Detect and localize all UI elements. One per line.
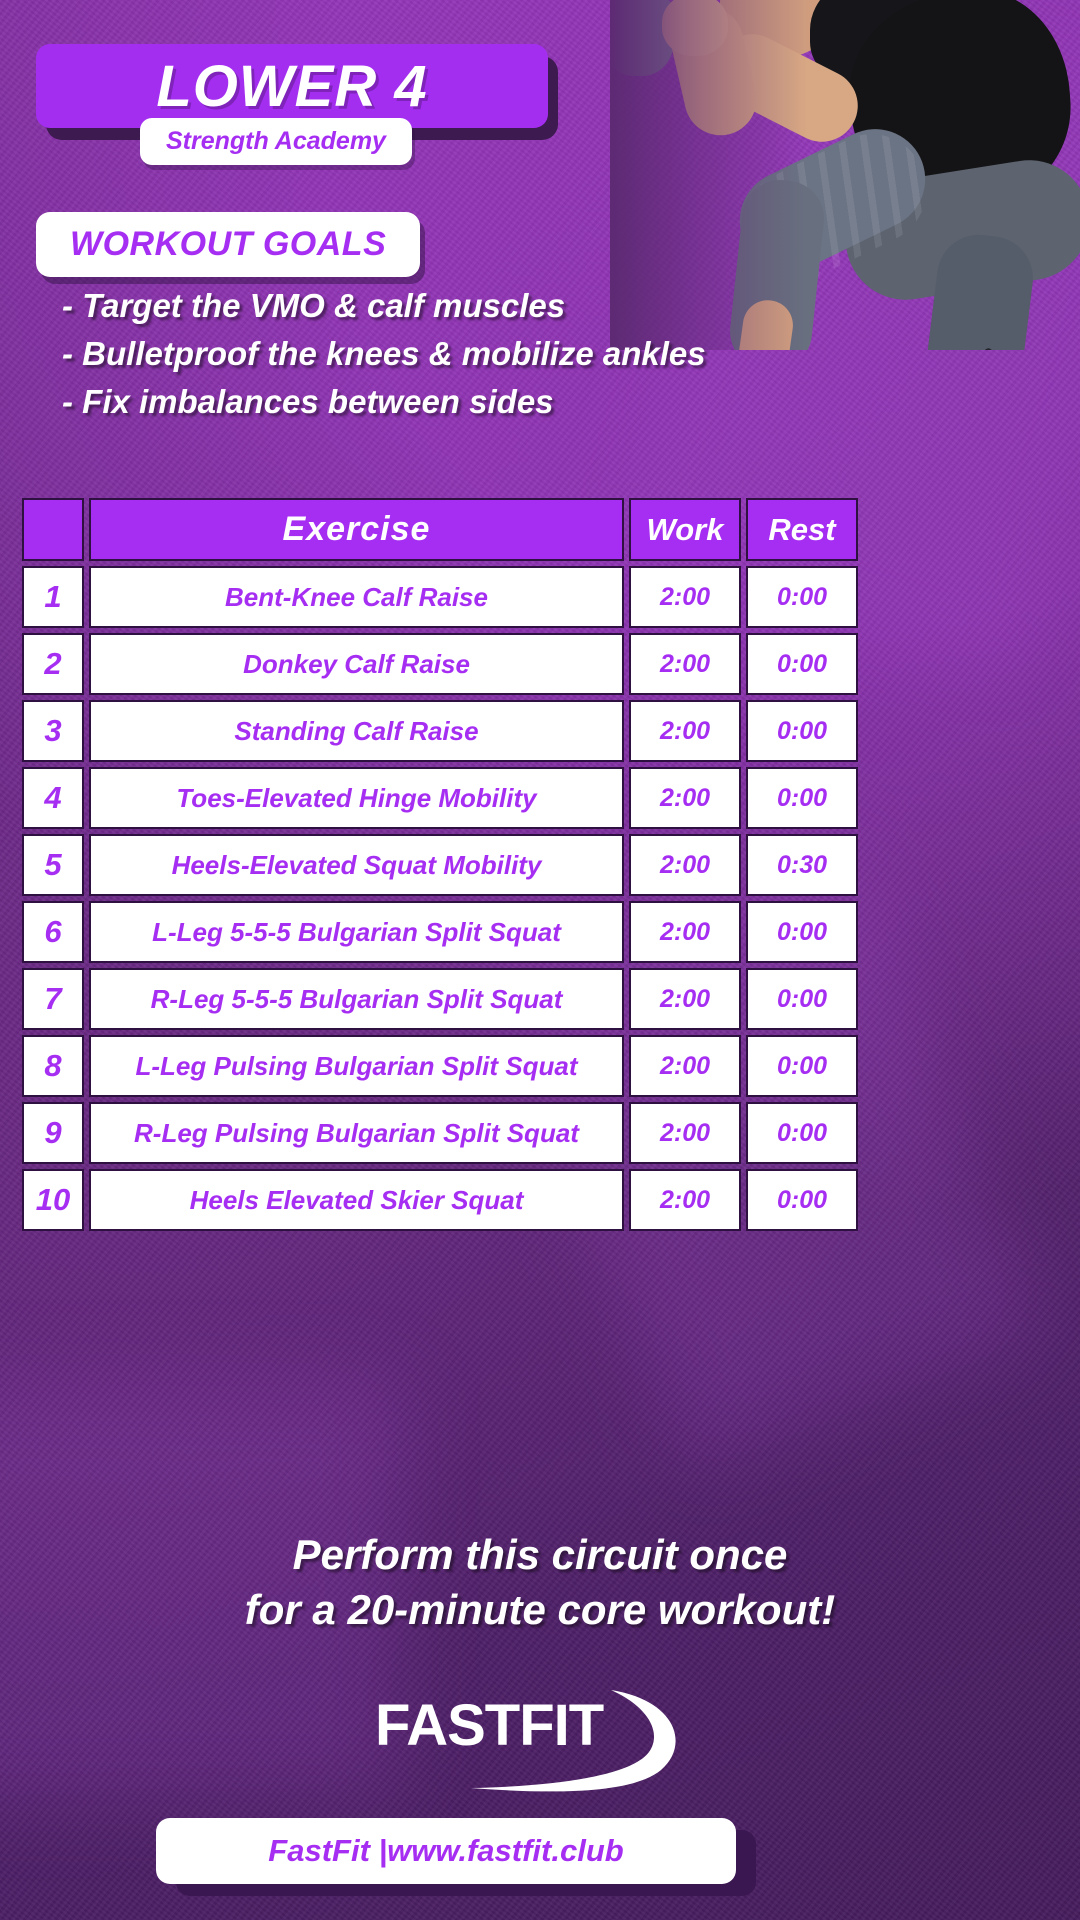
workout-goals-pill: WORKOUT GOALS bbox=[36, 212, 420, 277]
row-work: 2:00 bbox=[629, 1169, 741, 1231]
row-number: 4 bbox=[22, 767, 84, 829]
row-exercise: Toes-Elevated Hinge Mobility bbox=[89, 767, 624, 829]
row-rest: 0:00 bbox=[746, 700, 858, 762]
row-number: 1 bbox=[22, 566, 84, 628]
column-header-rest: Rest bbox=[746, 498, 858, 561]
column-header-exercise: Exercise bbox=[89, 498, 624, 561]
row-rest: 0:00 bbox=[746, 633, 858, 695]
row-exercise: Donkey Calf Raise bbox=[89, 633, 624, 695]
row-rest: 0:30 bbox=[746, 834, 858, 896]
row-work: 2:00 bbox=[629, 901, 741, 963]
row-work: 2:00 bbox=[629, 834, 741, 896]
outro-line-1: Perform this circuit once bbox=[0, 1528, 1080, 1583]
outro-message: Perform this circuit once for a 20-minut… bbox=[0, 1528, 1080, 1637]
workout-goals-list: - Target the VMO & calf muscles - Bullet… bbox=[62, 282, 862, 426]
row-exercise: Standing Calf Raise bbox=[89, 700, 624, 762]
page-title: LOWER 4 bbox=[156, 53, 427, 120]
table-row: 3 Standing Calf Raise 2:00 0:00 bbox=[22, 700, 858, 762]
table-row: 1 Bent-Knee Calf Raise 2:00 0:00 bbox=[22, 566, 858, 628]
row-work: 2:00 bbox=[629, 633, 741, 695]
row-rest: 0:00 bbox=[746, 566, 858, 628]
row-number: 10 bbox=[22, 1169, 84, 1231]
url-bar[interactable]: FastFit |www.fastfit.club bbox=[156, 1818, 736, 1884]
row-work: 2:00 bbox=[629, 968, 741, 1030]
row-rest: 0:00 bbox=[746, 1035, 858, 1097]
subtitle-pill: Strength Academy bbox=[140, 118, 412, 165]
row-exercise: L-Leg 5-5-5 Bulgarian Split Squat bbox=[89, 901, 624, 963]
table-header-row: Exercise Work Rest bbox=[22, 498, 858, 561]
row-exercise: R-Leg 5-5-5 Bulgarian Split Squat bbox=[89, 968, 624, 1030]
row-exercise: Bent-Knee Calf Raise bbox=[89, 566, 624, 628]
title-banner: LOWER 4 bbox=[36, 44, 548, 128]
column-header-work: Work bbox=[629, 498, 741, 561]
table-row: 10 Heels Elevated Skier Squat 2:00 0:00 bbox=[22, 1169, 858, 1231]
logo-wordmark: FASTFIT bbox=[375, 1692, 603, 1759]
goal-item: - Target the VMO & calf muscles bbox=[62, 282, 862, 330]
workout-goals-label: WORKOUT GOALS bbox=[70, 225, 386, 263]
row-rest: 0:00 bbox=[746, 968, 858, 1030]
url-text: FastFit |www.fastfit.club bbox=[268, 1833, 623, 1869]
exercise-table: Exercise Work Rest 1 Bent-Knee Calf Rais… bbox=[22, 498, 858, 1236]
row-number: 9 bbox=[22, 1102, 84, 1164]
row-work: 2:00 bbox=[629, 1035, 741, 1097]
row-exercise: Heels Elevated Skier Squat bbox=[89, 1169, 624, 1231]
row-rest: 0:00 bbox=[746, 901, 858, 963]
row-work: 2:00 bbox=[629, 1102, 741, 1164]
brand-logo: FASTFIT bbox=[0, 1686, 1080, 1796]
subtitle-label: Strength Academy bbox=[166, 127, 386, 155]
table-row: 5 Heels-Elevated Squat Mobility 2:00 0:3… bbox=[22, 834, 858, 896]
row-rest: 0:00 bbox=[746, 1169, 858, 1231]
row-exercise: R-Leg Pulsing Bulgarian Split Squat bbox=[89, 1102, 624, 1164]
row-work: 2:00 bbox=[629, 566, 741, 628]
goal-item: - Bulletproof the knees & mobilize ankle… bbox=[62, 330, 862, 378]
outro-line-2: for a 20-minute core workout! bbox=[0, 1583, 1080, 1638]
table-row: 6 L-Leg 5-5-5 Bulgarian Split Squat 2:00… bbox=[22, 901, 858, 963]
table-row: 2 Donkey Calf Raise 2:00 0:00 bbox=[22, 633, 858, 695]
row-exercise: Heels-Elevated Squat Mobility bbox=[89, 834, 624, 896]
table-row: 8 L-Leg Pulsing Bulgarian Split Squat 2:… bbox=[22, 1035, 858, 1097]
column-header-number bbox=[22, 498, 84, 561]
table-row: 7 R-Leg 5-5-5 Bulgarian Split Squat 2:00… bbox=[22, 968, 858, 1030]
table-row: 4 Toes-Elevated Hinge Mobility 2:00 0:00 bbox=[22, 767, 858, 829]
goal-item: - Fix imbalances between sides bbox=[62, 378, 862, 426]
row-number: 7 bbox=[22, 968, 84, 1030]
row-work: 2:00 bbox=[629, 700, 741, 762]
row-rest: 0:00 bbox=[746, 767, 858, 829]
row-number: 2 bbox=[22, 633, 84, 695]
row-exercise: L-Leg Pulsing Bulgarian Split Squat bbox=[89, 1035, 624, 1097]
row-number: 6 bbox=[22, 901, 84, 963]
row-number: 8 bbox=[22, 1035, 84, 1097]
row-rest: 0:00 bbox=[746, 1102, 858, 1164]
title-block: LOWER 4 bbox=[36, 44, 548, 128]
row-number: 3 bbox=[22, 700, 84, 762]
table-row: 9 R-Leg Pulsing Bulgarian Split Squat 2:… bbox=[22, 1102, 858, 1164]
row-number: 5 bbox=[22, 834, 84, 896]
row-work: 2:00 bbox=[629, 767, 741, 829]
